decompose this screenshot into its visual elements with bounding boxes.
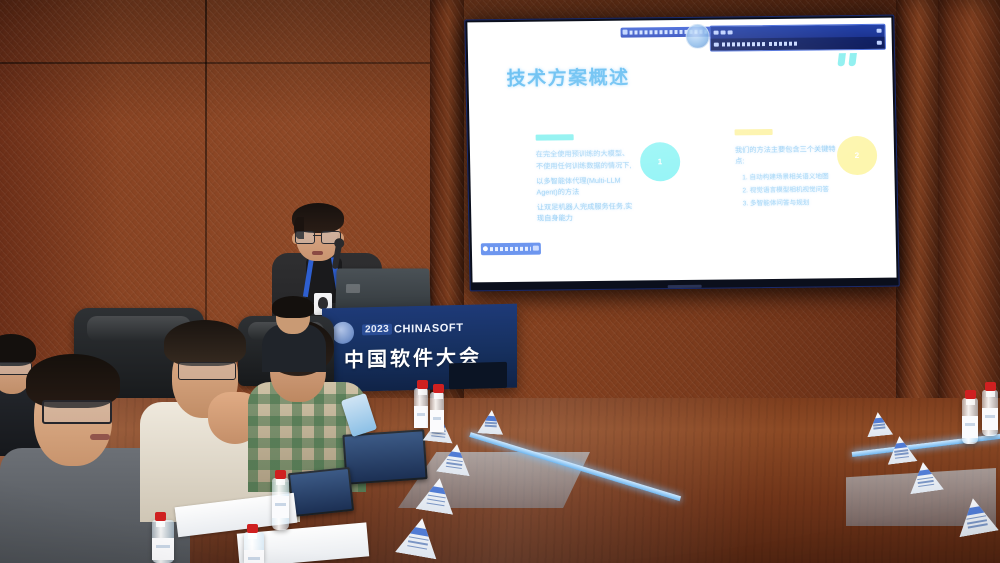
left-column-text: 在完全使用预训练的大模型、不使用任何训练数据的情况下, 以多智能体代理(Mult… [536,148,637,228]
presenter-mouth [312,251,323,255]
left-paragraph-3: 让双足机器人完成服务任务,实现自身能力 [537,201,637,224]
left-paragraph-1: 在完全使用预训练的大模型、不使用任何训练数据的情况下, [536,148,636,171]
left-badge-number: 1 [639,142,680,181]
close-icon[interactable] [877,29,882,33]
presentation-slide[interactable]: 技术方案概述 [467,18,896,283]
minimize-icon[interactable] [714,30,719,34]
water-bottle [272,478,289,530]
window-status-text-2 [769,42,799,46]
window-status-text [722,42,766,46]
conference-room-scene: 技术方案概述 [0,0,1000,563]
water-bottle [982,390,998,436]
podium-brand-en: CHINASOFT [394,322,464,336]
right-badge-number: 2 [836,136,877,175]
left-paragraph-2: 以多智能体代理(Multi-LLM Agent)的方法 [536,174,636,197]
globe-icon [685,24,710,49]
podium-monitor [449,362,507,389]
quote-mark-decoration [838,53,856,66]
attendee-hair [164,320,246,366]
info-icon [714,43,719,47]
water-bottle [152,520,174,563]
wall-display[interactable]: 技术方案概述 [464,15,899,292]
attendee-back-row [262,300,322,360]
laptop-logo [346,284,360,293]
right-item-list: 自动构建场景相关语义地图 视觉语言模型相机视觉问答 多智能体问答与规划 [735,170,838,211]
right-item-1: 自动构建场景相关语义地图 [749,170,837,184]
attendee-glasses [178,362,236,380]
maximize-icon[interactable] [721,30,726,34]
water-bottle [962,398,978,444]
right-column-text: 我们的方法主要包含三个关键特点: 自动构建场景相关语义地图 视觉语言模型相机视觉… [735,143,838,211]
status-badge-label [490,247,530,251]
restore-icon[interactable] [728,30,733,34]
status-dot-icon [483,247,488,252]
right-item-2: 视觉语言模型相机视觉问答 [750,184,838,198]
right-column-tag [735,129,773,135]
display-brand-strip [667,285,701,288]
window-statusbar [711,37,885,51]
volume-icon[interactable] [877,41,882,45]
attendee-laptop[interactable] [342,429,427,485]
water-bottle [414,388,428,428]
right-lead-text: 我们的方法主要包含三个关键特点: [735,143,837,166]
presenter-hair [292,203,344,233]
water-bottle [244,532,264,563]
water-bottle [430,392,444,432]
status-badge-button[interactable] [533,246,539,251]
podium-year: 2023 [362,324,392,336]
chart-icon [622,30,627,35]
left-column-tag [535,134,573,140]
slide-title: 技术方案概述 [506,62,630,90]
attendee-hair [272,296,314,318]
attendee-laptop[interactable] [288,467,354,517]
right-item-3: 多智能体问答与规划 [750,197,838,211]
overlay-window[interactable] [710,23,886,52]
powerpoint-status-badge[interactable] [481,243,541,256]
attendee-glasses [42,400,112,424]
attendee-mouth [90,434,110,440]
